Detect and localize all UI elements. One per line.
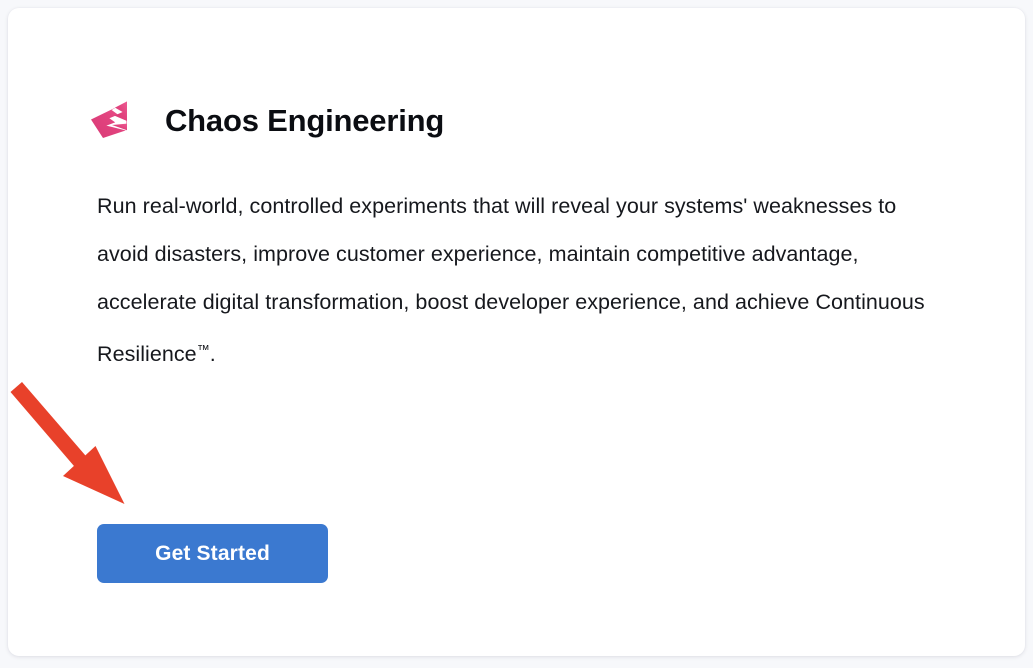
page-title: Chaos Engineering — [131, 105, 444, 136]
chaos-engineering-logo-icon — [89, 99, 131, 141]
description-period: . — [210, 342, 216, 366]
trademark-symbol: ™ — [197, 342, 210, 357]
description-text: Run real-world, controlled experiments t… — [97, 182, 943, 378]
card-header: Chaos Engineering — [89, 92, 444, 148]
content-card: Chaos Engineering Run real-world, contro… — [8, 8, 1025, 656]
description-body: Run real-world, controlled experiments t… — [97, 194, 925, 366]
get-started-button[interactable]: Get Started — [97, 524, 328, 583]
